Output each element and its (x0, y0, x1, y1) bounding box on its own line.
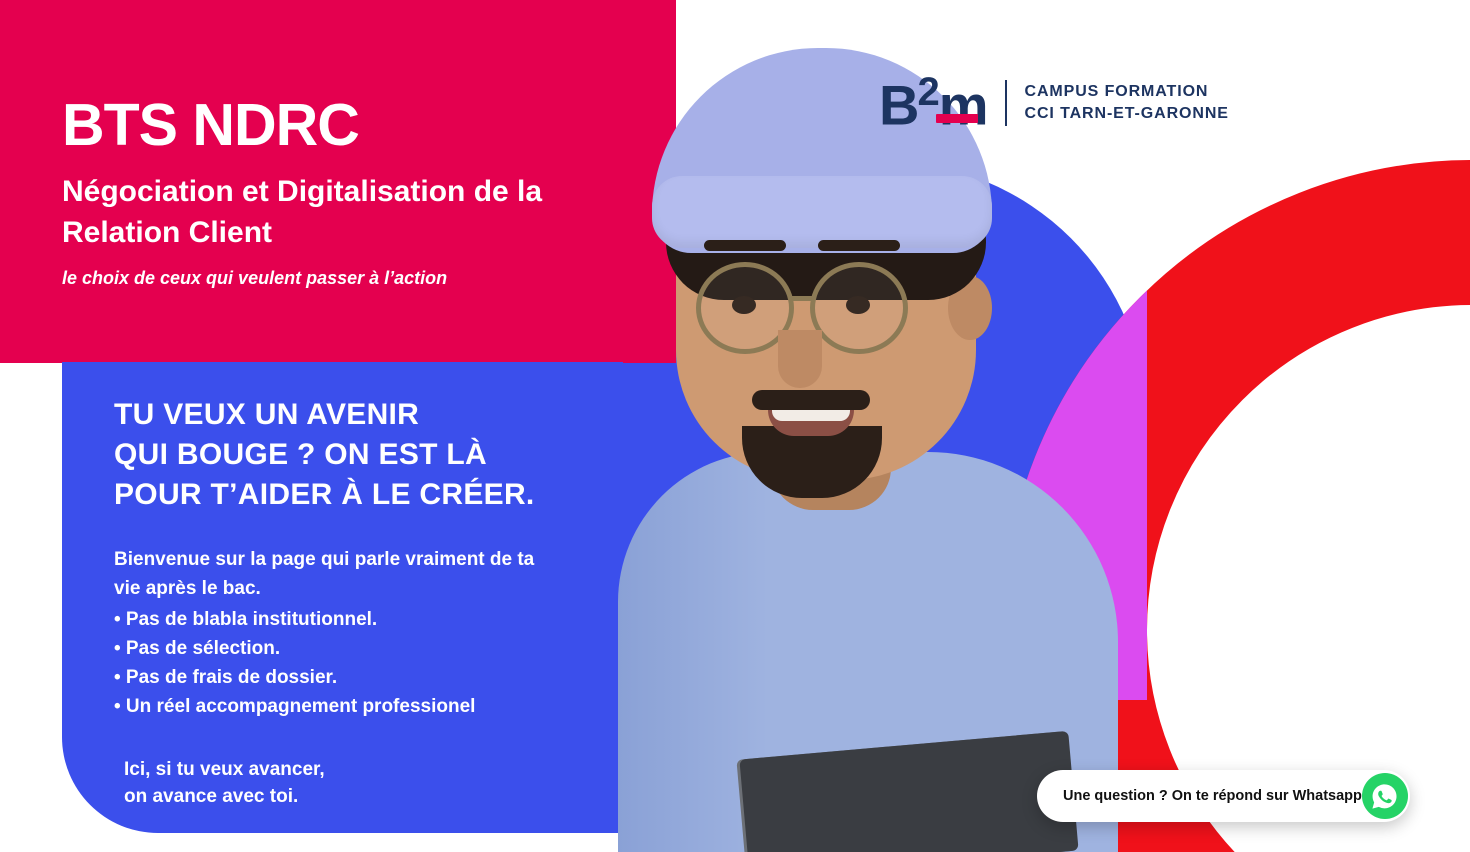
logo-organisation-text: CAMPUS FORMATION CCI TARN-ET-GARONNE (1025, 81, 1229, 124)
list-item: • Un réel accompagnement professionel (114, 692, 623, 721)
panel-headline: TU VEUX UN AVENIR QUI BOUGE ? ON EST LÀ … (114, 395, 623, 515)
panel-bullet-list: • Pas de blabla institutionnel. • Pas de… (114, 605, 623, 721)
list-item: • Pas de frais de dossier. (114, 663, 623, 692)
list-item: • Pas de blabla institutionnel. (114, 605, 623, 634)
photo-moustache (752, 390, 870, 410)
photo-eyeglass-bridge (792, 296, 814, 301)
logo-text-line-2: CCI TARN-ET-GARONNE (1025, 103, 1229, 125)
photo-eyebrow-right (818, 240, 900, 251)
b2m-logo[interactable]: B2m CAMPUS FORMATION CCI TARN-ET-GARONNE (879, 72, 1229, 134)
logo-digit-two: 2 (917, 70, 938, 114)
poster-canvas: BTS NDRC Négociation et Digitalisation d… (0, 0, 1470, 852)
headline-line-2: QUI BOUGE ? ON EST LÀ (114, 435, 623, 475)
logo-letter-b: B (879, 74, 917, 137)
headline-line-3: POUR T’AIDER À LE CRÉER. (114, 475, 623, 515)
logo-letter-m: m (939, 74, 987, 137)
logo-divider (1005, 80, 1007, 126)
whatsapp-icon[interactable] (1362, 773, 1408, 819)
photo-eyebrow-left (704, 240, 786, 251)
photo-teeth (772, 410, 850, 421)
logo-text-line-1: CAMPUS FORMATION (1025, 81, 1229, 103)
course-full-title: Négociation et Digitalisation de la Rela… (62, 171, 582, 254)
closing-line-2: on avance avec toi. (124, 784, 623, 811)
panel-body: Bienvenue sur la page qui parle vraiment… (114, 545, 623, 721)
list-item: • Pas de sélection. (114, 634, 623, 663)
photo-beanie-brim (652, 176, 992, 248)
panel-closing-statement: Ici, si tu veux avancer, on avance avec … (124, 757, 623, 811)
logo-wordmark: B2m (879, 72, 987, 134)
content-panel: TU VEUX UN AVENIR QUI BOUGE ? ON EST LÀ … (62, 362, 623, 833)
photo-eyeglass-right (810, 262, 908, 354)
closing-line-1: Ici, si tu veux avancer, (124, 757, 623, 784)
panel-lead-text: Bienvenue sur la page qui parle vraiment… (114, 545, 544, 603)
photo-nose (778, 330, 822, 388)
whatsapp-cta-button[interactable]: Une question ? On te répond sur Whatsapp (1037, 770, 1410, 822)
headline-line-1: TU VEUX UN AVENIR (114, 395, 623, 435)
whatsapp-cta-label: Une question ? On te répond sur Whatsapp (1063, 788, 1362, 804)
logo-accent-underline (936, 114, 978, 123)
